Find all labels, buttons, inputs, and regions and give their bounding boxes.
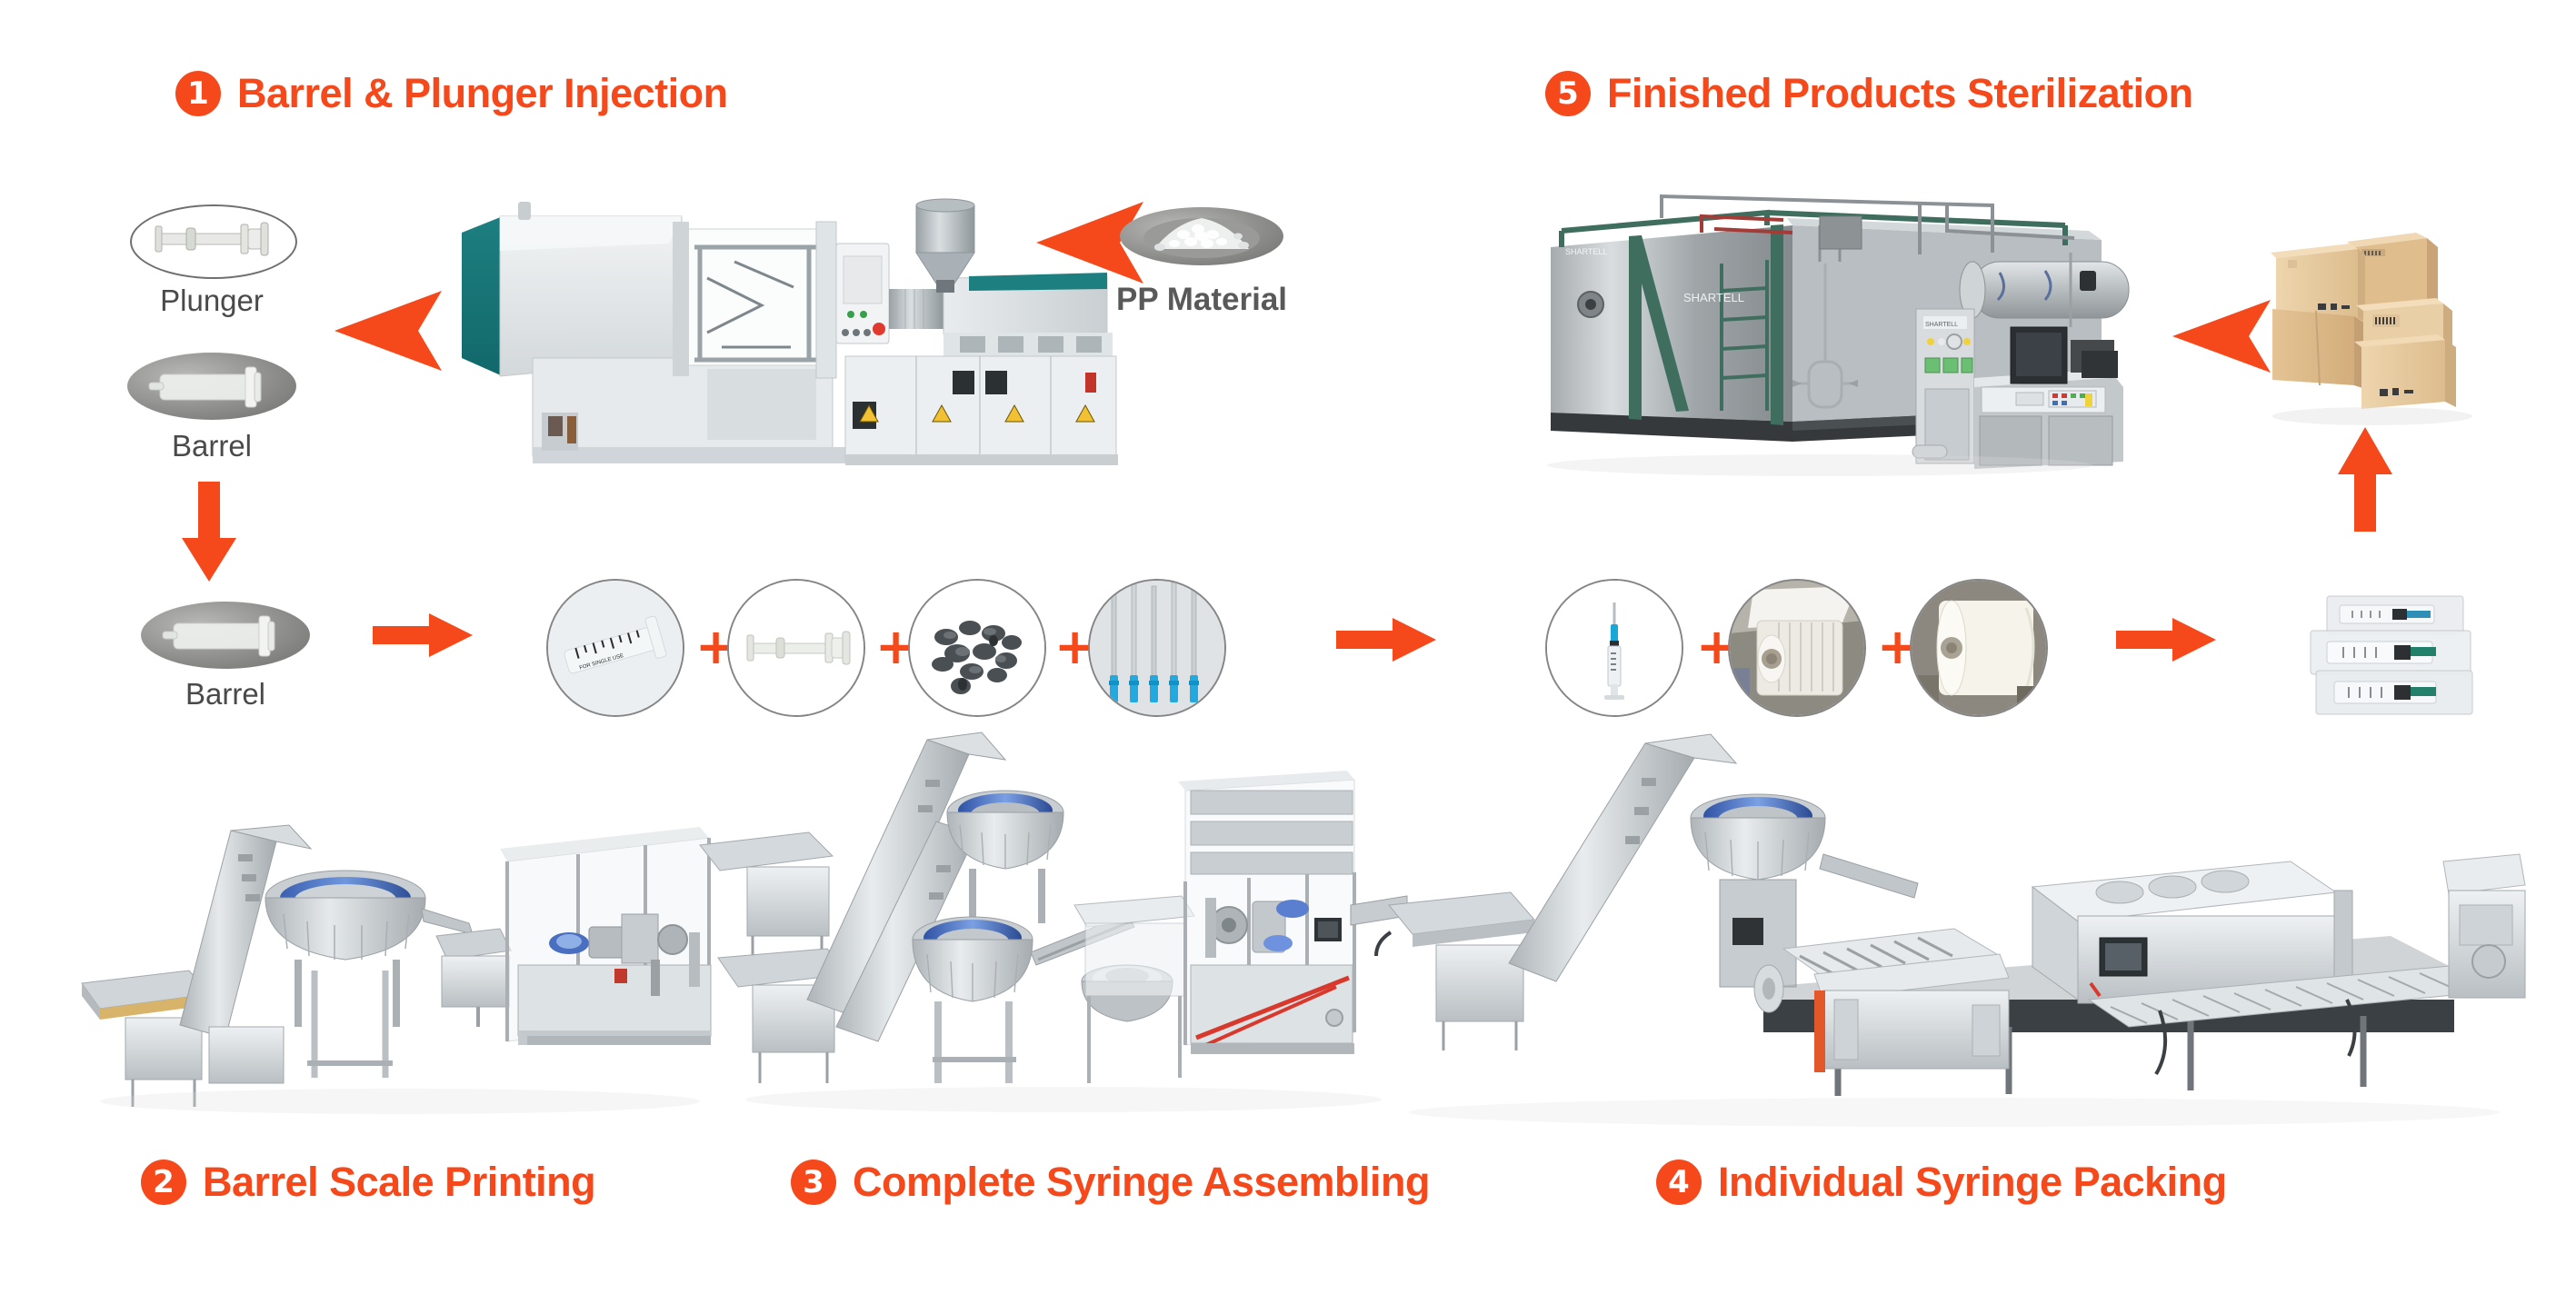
arrow-components-to-assembled [1336,618,1436,662]
barrel-image-bottom [141,602,310,669]
eto-sterilizer-machine: SHARTELL SHARTELL [1520,173,2192,482]
step-heading-2: 2 Barrel Scale Printing [141,1159,595,1206]
step-badge-3: 3 [791,1160,836,1205]
injection-molding-machine [434,178,1125,478]
step-title-2: Barrel Scale Printing [203,1159,595,1206]
step-heading-4: 4 Individual Syringe Packing [1656,1159,2227,1206]
barrel-caption-bottom: Barrel [141,677,310,712]
component-printed-barrel: FOR SINGLE USE [546,579,684,717]
pp-material-caption: PP Material [1111,282,1293,318]
barrel-oval-frame-bottom [141,602,310,669]
step-title-3: Complete Syringe Assembling [853,1159,1430,1206]
packed-syringes [2283,591,2576,736]
component-rubber-gaskets [908,579,1046,717]
syringe-assembling-line [700,727,1409,1136]
pp-material-oval-frame [1120,207,1283,265]
arrow-barrel-down [182,482,236,582]
step-heading-1: 1 Barrel & Plunger Injection [175,70,728,117]
step-badge-5: 5 [1545,71,1591,116]
step-title-4: Individual Syringe Packing [1718,1159,2227,1206]
component-needles [1088,579,1226,717]
step-badge-1: 1 [175,71,221,116]
component-assembled-syringe [1545,579,1683,717]
sterilizer-brand: SHARTELL [1683,291,1744,304]
process-flow-diagram: 1 Barrel & Plunger Injection 5 Finished … [0,0,2576,1314]
step-badge-4: 4 [1656,1160,1702,1205]
step-title-1: Barrel & Plunger Injection [237,70,728,117]
step-heading-3: 3 Complete Syringe Assembling [791,1159,1430,1206]
arrow-assembled-to-packed [2116,618,2216,662]
arrow-barrel-to-components [373,613,473,657]
step-badge-2: 2 [141,1160,186,1205]
plunger-oval-frame [130,204,297,279]
barrel-oval-frame-top [127,353,296,420]
barrel-image-top [127,353,296,420]
carton-boxes [2263,227,2572,454]
individual-syringe-packing-line [1373,727,2527,1136]
step-heading-5: 5 Finished Products Sterilization [1545,70,2193,117]
svg-text:SHARTELL: SHARTELL [1925,322,1958,328]
plunger-image [132,206,292,274]
pp-material-image [1120,207,1283,265]
step-title-5: Finished Products Sterilization [1607,70,2193,117]
sterilizer-brand-small: SHARTELL [1565,247,1607,256]
plunger-caption: Plunger [130,284,294,318]
component-pe-film-roll [1910,579,2048,717]
barrel-caption-top: Barrel [127,429,296,463]
component-plunger [727,579,865,717]
barrel-scale-printing-line [73,754,727,1136]
component-blister-paper-roll [1728,579,1866,717]
